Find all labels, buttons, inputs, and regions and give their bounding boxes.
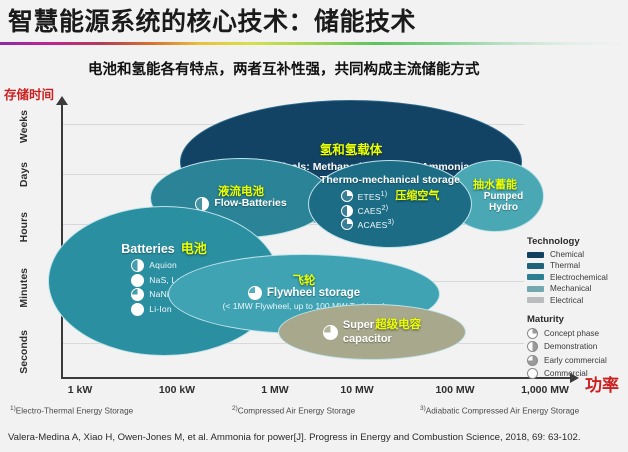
list-item: ACAES3)	[341, 218, 440, 230]
thermo-item-etes-footnote: 1)	[381, 190, 388, 198]
legend-item-chemical[interactable]: Chemical	[527, 250, 627, 259]
x-tick-1kw: 1 kW	[68, 384, 93, 396]
y-axis-arrow	[56, 96, 68, 105]
thermo-item-caes-footnote: 2)	[382, 204, 389, 212]
footnote-1-text: Electro-Thermal Energy Storage	[16, 407, 133, 416]
legend-label-concept-phase: Concept phase	[544, 329, 599, 338]
footnote-1: 1)Electro-Thermal Energy Storage	[10, 405, 133, 416]
legend-label-mechanical: Mechanical	[550, 284, 591, 293]
legend-item-commercial[interactable]: Commercial	[527, 368, 627, 379]
footnote-3-text: Adiabatic Compressed Air Energy Storage	[426, 407, 579, 416]
legend-swatch-electrical	[527, 297, 544, 303]
legend-maturity-title: Maturity	[527, 314, 627, 325]
maturity-commercial-icon	[131, 274, 144, 287]
battery-item-liion-label: Li-Ion	[149, 304, 171, 314]
bubble-supercapacitor-label-cn: 超级电容	[375, 318, 421, 332]
page-subtitle: 电池和氢能各有特点，两者互补性强，共同构成主流储能方式	[88, 58, 480, 79]
maturity-early-commercial-icon	[527, 355, 538, 366]
maturity-demonstration-icon	[131, 259, 144, 272]
page-title: 智慧能源系统的核心技术：储能技术	[8, 2, 416, 38]
legend-label-chemical: Chemical	[550, 250, 584, 259]
footnote-2-text: Compressed Air Energy Storage	[238, 407, 355, 416]
bubble-flywheel-label-en: Flywheel storage	[267, 286, 360, 300]
bubble-thermo-mechanical-label-cn: 压缩空气	[395, 190, 439, 203]
legend-swatch-thermal	[527, 263, 544, 269]
legend-technology-title: Technology	[527, 236, 627, 247]
legend-label-electrochemical: Electrochemical	[550, 273, 608, 282]
legend-item-demonstration[interactable]: Demonstration	[527, 341, 627, 352]
y-tick-seconds: Seconds	[18, 330, 46, 358]
legend-divider	[527, 307, 627, 314]
thermo-item-acaes-label: ACAES	[358, 220, 388, 230]
x-tick-1000mw: 1,000 MW	[521, 384, 569, 396]
maturity-early-commercial-icon	[131, 288, 144, 301]
maturity-early-commercial-icon	[323, 325, 338, 340]
legend-item-early-commercial[interactable]: Early commercial	[527, 355, 627, 366]
bubble-batteries-label-en: Batteries	[121, 242, 175, 257]
thermo-item-etes-label: ETES	[358, 192, 381, 202]
bubble-thermo-mechanical-label-en: Thermo-mechanical storage	[320, 174, 460, 187]
maturity-demonstration-icon	[527, 341, 538, 352]
legend-item-mechanical[interactable]: Mechanical	[527, 284, 627, 293]
maturity-concept-phase-icon	[527, 328, 538, 339]
legend-item-electrical[interactable]: Electrical	[527, 296, 627, 305]
footnote-2: 2)Compressed Air Energy Storage	[232, 405, 355, 416]
x-axis-line	[61, 377, 574, 379]
maturity-commercial-icon	[527, 368, 538, 379]
battery-item-aquion-label: Aquion	[149, 260, 177, 270]
bubble-supercapacitor-label-en-1: Super	[343, 319, 374, 332]
legend-swatch-electrochemical	[527, 274, 544, 280]
title-divider-gradient	[0, 42, 628, 45]
y-axis-line	[61, 104, 63, 379]
bubble-supercapacitor[interactable]: Super 超级电容 capacitor	[278, 304, 466, 360]
slide-root: 智慧能源系统的核心技术：储能技术 电池和氢能各有特点，两者互补性强，共同构成主流…	[0, 0, 628, 452]
bubble-supercapacitor-label-en-2: capacitor	[343, 333, 421, 346]
x-tick-10mw: 10 MW	[340, 384, 373, 396]
list-item: ETES1) 压缩空气	[341, 190, 440, 203]
maturity-demonstration-icon	[341, 205, 353, 217]
footnote-3: 3)Adiabatic Compressed Air Energy Storag…	[420, 405, 579, 416]
maturity-early-commercial-icon	[248, 286, 262, 300]
bubble-pumped-hydro-label-en: Pumped Hydro	[470, 191, 537, 213]
thermo-item-acaes-footnote: 3)	[387, 218, 394, 226]
y-tick-days: Days	[18, 162, 46, 190]
legend-label-thermal: Thermal	[550, 261, 580, 270]
list-item: CAES2)	[341, 204, 440, 216]
x-tick-100mw: 100 MW	[435, 384, 474, 396]
legend-item-electrochemical[interactable]: Electrochemical	[527, 273, 627, 282]
y-tick-hours: Hours	[18, 212, 46, 240]
maturity-concept-phase-icon	[341, 218, 353, 230]
thermo-item-caes-label: CAES	[358, 206, 382, 216]
legend-label-early-commercial: Early commercial	[544, 356, 607, 365]
maturity-commercial-icon	[131, 303, 144, 316]
x-tick-100kw: 100 kW	[159, 384, 195, 396]
y-tick-minutes: Minutes	[18, 268, 46, 296]
bubble-thermo-mechanical[interactable]: Thermo-mechanical storage ETES1) 压缩空气 CA…	[308, 160, 472, 248]
x-tick-1mw: 1 MW	[261, 384, 288, 396]
y-tick-weeks: Weeks	[18, 110, 46, 138]
citation-text: Valera-Medina A, Xiao H, Owen-Jones M, e…	[8, 432, 581, 443]
bubble-batteries-label-cn: 电池	[181, 241, 207, 257]
bubble-flow-batteries-label-en: Flow-Batteries	[214, 198, 286, 210]
legend-label-electrical: Electrical	[550, 296, 583, 305]
legend-item-concept-phase[interactable]: Concept phase	[527, 328, 627, 339]
chart-legend: Technology Chemical Thermal Electrochemi…	[527, 236, 627, 382]
maturity-concept-phase-icon	[341, 190, 353, 202]
legend-swatch-mechanical	[527, 286, 544, 292]
legend-label-commercial: Commercial	[544, 369, 588, 378]
bubble-chemicals-label-cn: 氢和氢载体	[233, 143, 470, 158]
legend-item-thermal[interactable]: Thermal	[527, 261, 627, 270]
legend-label-demonstration: Demonstration	[544, 342, 597, 351]
legend-swatch-chemical	[527, 252, 544, 258]
